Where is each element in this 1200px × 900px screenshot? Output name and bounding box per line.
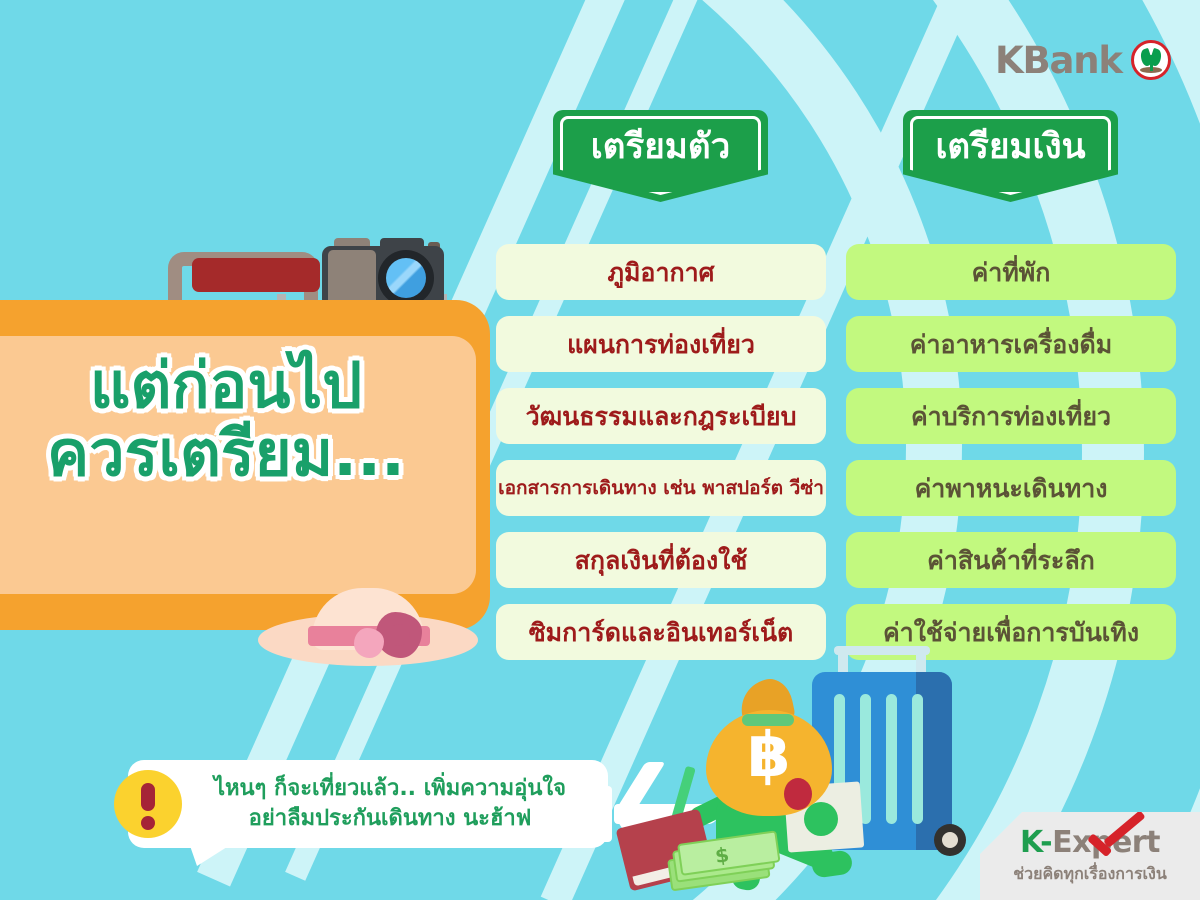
sun-hat-icon xyxy=(258,588,478,666)
page-title: แต่ก่อนไป ควรเตรียม... xyxy=(0,352,476,488)
banner-prepare-self: เตรียมตัว xyxy=(553,110,768,202)
camera-lens-glass xyxy=(386,258,426,298)
list-item: ค่าสินค้าที่ระลึก xyxy=(846,532,1176,588)
list-item: ค่าอาหารเครื่องดื่ม xyxy=(846,316,1176,372)
kbank-seal-icon xyxy=(1131,40,1171,80)
suitcase-stripe xyxy=(912,694,923,824)
list-item: เอกสารการเดินทาง เช่น พาสปอร์ต วีซ่า xyxy=(496,460,826,516)
list-item: ซิมการ์ดและอินเทอร์เน็ต xyxy=(496,604,826,660)
suitcase-wheel xyxy=(934,824,966,856)
list-item: ค่าพาหนะเดินทาง xyxy=(846,460,1176,516)
exclamation-dot xyxy=(141,816,155,830)
banner-prepare-money: เตรียมเงิน xyxy=(903,110,1118,202)
kexpert-badge: K-Expert ช่วยคิดทุกเรื่องการเงิน xyxy=(980,812,1200,900)
checkmark-icon xyxy=(1088,818,1150,852)
page-title-line1: แต่ก่อนไป xyxy=(90,349,362,422)
suitcase-stripe xyxy=(886,694,897,824)
camera-grip xyxy=(328,250,376,306)
checkmark-long xyxy=(1103,810,1146,848)
infographic-canvas: KBank แต่ก่อนไป ควรเตรียม... xyxy=(0,0,1200,900)
kexpert-tagline: ช่วยคิดทุกเรื่องการเงิน xyxy=(980,866,1200,882)
kexpert-k: K- xyxy=(1020,825,1052,860)
handle-grip xyxy=(192,258,320,292)
insurance-notice-bubble: ไหนๆ ก็จะเที่ยวแล้ว.. เพิ่มความอุ่นใจ อย… xyxy=(128,760,608,848)
seal-leaf-right xyxy=(1148,48,1163,67)
insurance-notice-line2: อย่าลืมประกันเดินทาง นะฮ้าฟ xyxy=(190,804,590,834)
banner-prepare-self-label: เตรียมตัว xyxy=(553,130,768,165)
character-mouth xyxy=(784,778,812,810)
kbank-wordmark: KBank xyxy=(995,42,1122,79)
list-prepare-self: ภูมิอากาศ แผนการท่องเที่ยว วัฒนธรรมและกฎ… xyxy=(496,244,826,676)
hero-suitcase-illustration: แต่ก่อนไป ควรเตรียม... xyxy=(0,300,490,630)
kbank-logo: KBank xyxy=(995,40,1171,80)
exclamation-icon xyxy=(114,770,182,838)
list-item: สกุลเงินที่ต้องใช้ xyxy=(496,532,826,588)
list-item: แผนการท่องเที่ยว xyxy=(496,316,826,372)
insurance-notice-text: ไหนๆ ก็จะเที่ยวแล้ว.. เพิ่มความอุ่นใจ อย… xyxy=(190,774,590,833)
list-item: ภูมิอากาศ xyxy=(496,244,826,300)
camera-icon xyxy=(322,238,444,308)
insurance-notice-line1: ไหนๆ ก็จะเที่ยวแล้ว.. เพิ่มความอุ่นใจ xyxy=(190,774,590,804)
money-bag-icon: ฿ xyxy=(706,686,832,816)
baht-symbol: ฿ xyxy=(706,724,832,786)
page-title-line2: ควรเตรียม... xyxy=(0,420,476,488)
banner-prepare-money-label: เตรียมเงิน xyxy=(903,130,1118,165)
list-item: ค่าที่พัก xyxy=(846,244,1176,300)
list-item: วัฒนธรรมและกฎระเบียบ xyxy=(496,388,826,444)
list-item: ค่าบริการท่องเที่ยว xyxy=(846,388,1176,444)
list-prepare-money: ค่าที่พัก ค่าอาหารเครื่องดื่ม ค่าบริการท… xyxy=(846,244,1176,676)
exclamation-bar xyxy=(141,783,155,811)
